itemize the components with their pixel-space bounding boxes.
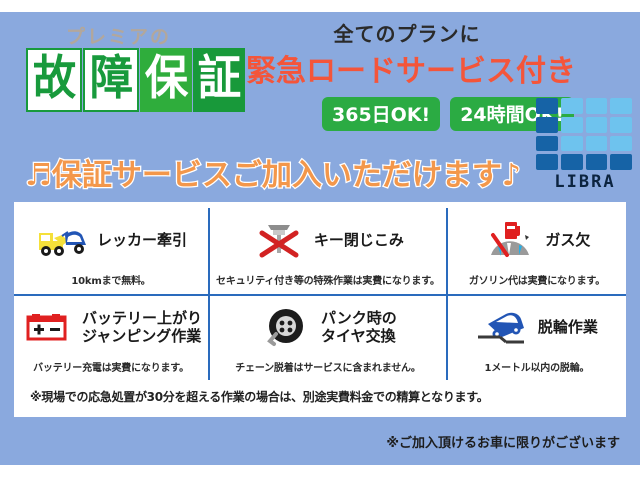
warranty-logo-block: プレミアの 故 障 保 証 — [18, 22, 250, 114]
libra-grid-icon — [536, 98, 632, 170]
service-title-tow: レッカー牽引 — [97, 231, 187, 249]
warranty-banner: プレミアの 故 障 保 証 全てのプランに 緊急ロードサービス付き 365日OK… — [0, 12, 640, 465]
battery-icon — [20, 306, 74, 348]
tow-truck-icon — [35, 219, 89, 261]
libra-logo: LIBRA — [536, 98, 634, 192]
service-title-fuel: ガス欠 — [545, 231, 590, 249]
slogan-text: ♬保証サービスご加入いただけます♪ — [8, 150, 538, 194]
libra-brand-name: LIBRA — [536, 172, 634, 192]
headline-subtitle: 全てのプランに — [262, 18, 552, 47]
logo-char-shou2-glyph: 証 — [197, 55, 240, 102]
service-cell-battery: バッテリー上がり ジャンピング作業 バッテリー充電は実費になります。 — [14, 294, 208, 380]
service-note-fuel: ガソリン代は実費になります。 — [469, 272, 605, 287]
logo-char-shou: 障 — [83, 48, 139, 112]
service-cell-fuel: ガス欠 ガソリン代は実費になります。 — [446, 208, 626, 294]
tire-icon — [259, 306, 313, 348]
premier-label: プレミアの — [66, 22, 171, 49]
logo-char-ko: 故 — [26, 48, 82, 112]
fuel-empty-icon — [483, 219, 537, 261]
service-note-key: セキュリティ付き等の特殊作業は実費になります。 — [216, 272, 440, 287]
service-title-tire: パンク時の タイヤ交換 — [321, 309, 397, 345]
logo-char-ko-glyph: 故 — [32, 55, 75, 102]
key-lockout-icon — [252, 219, 306, 261]
service-cell-tow: レッカー牽引 10kmまで無料。 — [14, 208, 208, 294]
service-cell-stuck: 脱輪作業 1メートル以内の脱輪。 — [446, 294, 626, 380]
banner-footnote: ※ご加入頂けるお車に限りがございます — [386, 432, 620, 451]
service-note-tow: 10kmまで無料。 — [71, 272, 150, 287]
service-note-stuck: 1メートル以内の脱輪。 — [485, 359, 590, 374]
headline-title: 緊急ロードサービス付き — [246, 46, 568, 90]
logo-char-ho-glyph: 保 — [144, 55, 187, 102]
service-title-battery-line1: バッテリー上がり — [82, 309, 202, 327]
service-title-battery: バッテリー上がり ジャンピング作業 — [82, 309, 202, 345]
logo-char-shou2: 証 — [193, 48, 245, 112]
service-title-tire-line2: タイヤ交換 — [321, 327, 397, 345]
service-note-tire: チェーン脱着はサービスに含まれません。 — [235, 359, 420, 374]
service-cell-tire: パンク時の タイヤ交換 チェーン脱着はサービスに含まれません。 — [208, 294, 446, 380]
service-panel: レッカー牽引 10kmまで無料。 — [14, 202, 626, 417]
service-grid: レッカー牽引 10kmまで無料。 — [14, 208, 626, 380]
service-note-battery: バッテリー充電は実費になります。 — [33, 359, 189, 374]
service-title-battery-line2: ジャンピング作業 — [82, 327, 202, 345]
logo-char-shou-glyph: 障 — [89, 55, 132, 102]
logo-char-ho: 保 — [140, 48, 192, 112]
banner-header: プレミアの 故 障 保 証 全てのプランに 緊急ロードサービス付き 365日OK… — [0, 12, 640, 204]
service-title-stuck: 脱輪作業 — [538, 318, 598, 336]
service-title-tire-line1: パンク時の — [321, 309, 397, 327]
service-title-key: キー閉じこみ — [314, 231, 404, 249]
stuck-car-icon — [476, 306, 530, 348]
service-cell-key: キー閉じこみ セキュリティ付き等の特殊作業は実費になります。 — [208, 208, 446, 294]
panel-footnote: ※現場での応急処置が30分を超える作業の場合は、別途実費料金での精算となります。 — [30, 388, 488, 405]
warranty-logo: 故 障 保 証 — [26, 48, 246, 112]
badge-365days: 365日OK! — [322, 97, 440, 131]
